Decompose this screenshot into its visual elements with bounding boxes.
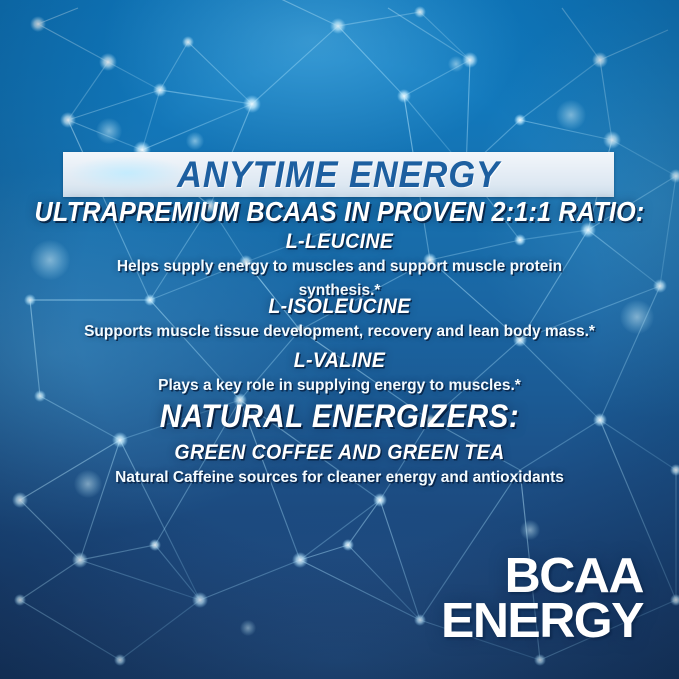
amino-acid-name: L-LEUCINE — [67, 231, 613, 253]
subheadline: ULTRAPREMIUM BCAAS IN PROVEN 2:1:1 RATIO… — [34, 198, 645, 226]
headline-banner: ANYTIME ENERGY — [63, 152, 614, 197]
brand-logo-line-1: BCAA — [441, 554, 643, 600]
amino-acid-block: L-VALINE Plays a key role in supplying e… — [46, 350, 633, 398]
headline-title: ANYTIME ENERGY — [177, 156, 500, 193]
energizer-description: Natural Caffeine sources for cleaner ene… — [105, 466, 575, 490]
banner-glow — [67, 156, 187, 190]
amino-acid-block: L-ISOLEUCINE Supports muscle tissue deve… — [46, 296, 633, 344]
amino-acid-block: L-LEUCINE Helps supply energy to muscles… — [46, 231, 633, 303]
amino-acid-description: Supports muscle tissue development, reco… — [46, 320, 633, 344]
section-title-natural-energizers: NATURAL ENERGIZERS: — [27, 400, 652, 432]
product-infographic-panel: ANYTIME ENERGY ULTRAPREMIUM BCAAS IN PRO… — [0, 0, 679, 679]
brand-logo: BCAA ENERGY — [441, 554, 643, 645]
amino-acid-name: L-VALINE — [67, 350, 613, 372]
energizer-block: GREEN COFFEE AND GREEN TEA Natural Caffe… — [46, 442, 633, 490]
amino-acid-description: Plays a key role in supplying energy to … — [46, 374, 633, 398]
amino-acid-name: L-ISOLEUCINE — [67, 296, 613, 318]
brand-logo-line-2: ENERGY — [441, 599, 643, 645]
energizer-name: GREEN COFFEE AND GREEN TEA — [67, 442, 613, 464]
panel-content: ANYTIME ENERGY ULTRAPREMIUM BCAAS IN PRO… — [0, 0, 679, 679]
